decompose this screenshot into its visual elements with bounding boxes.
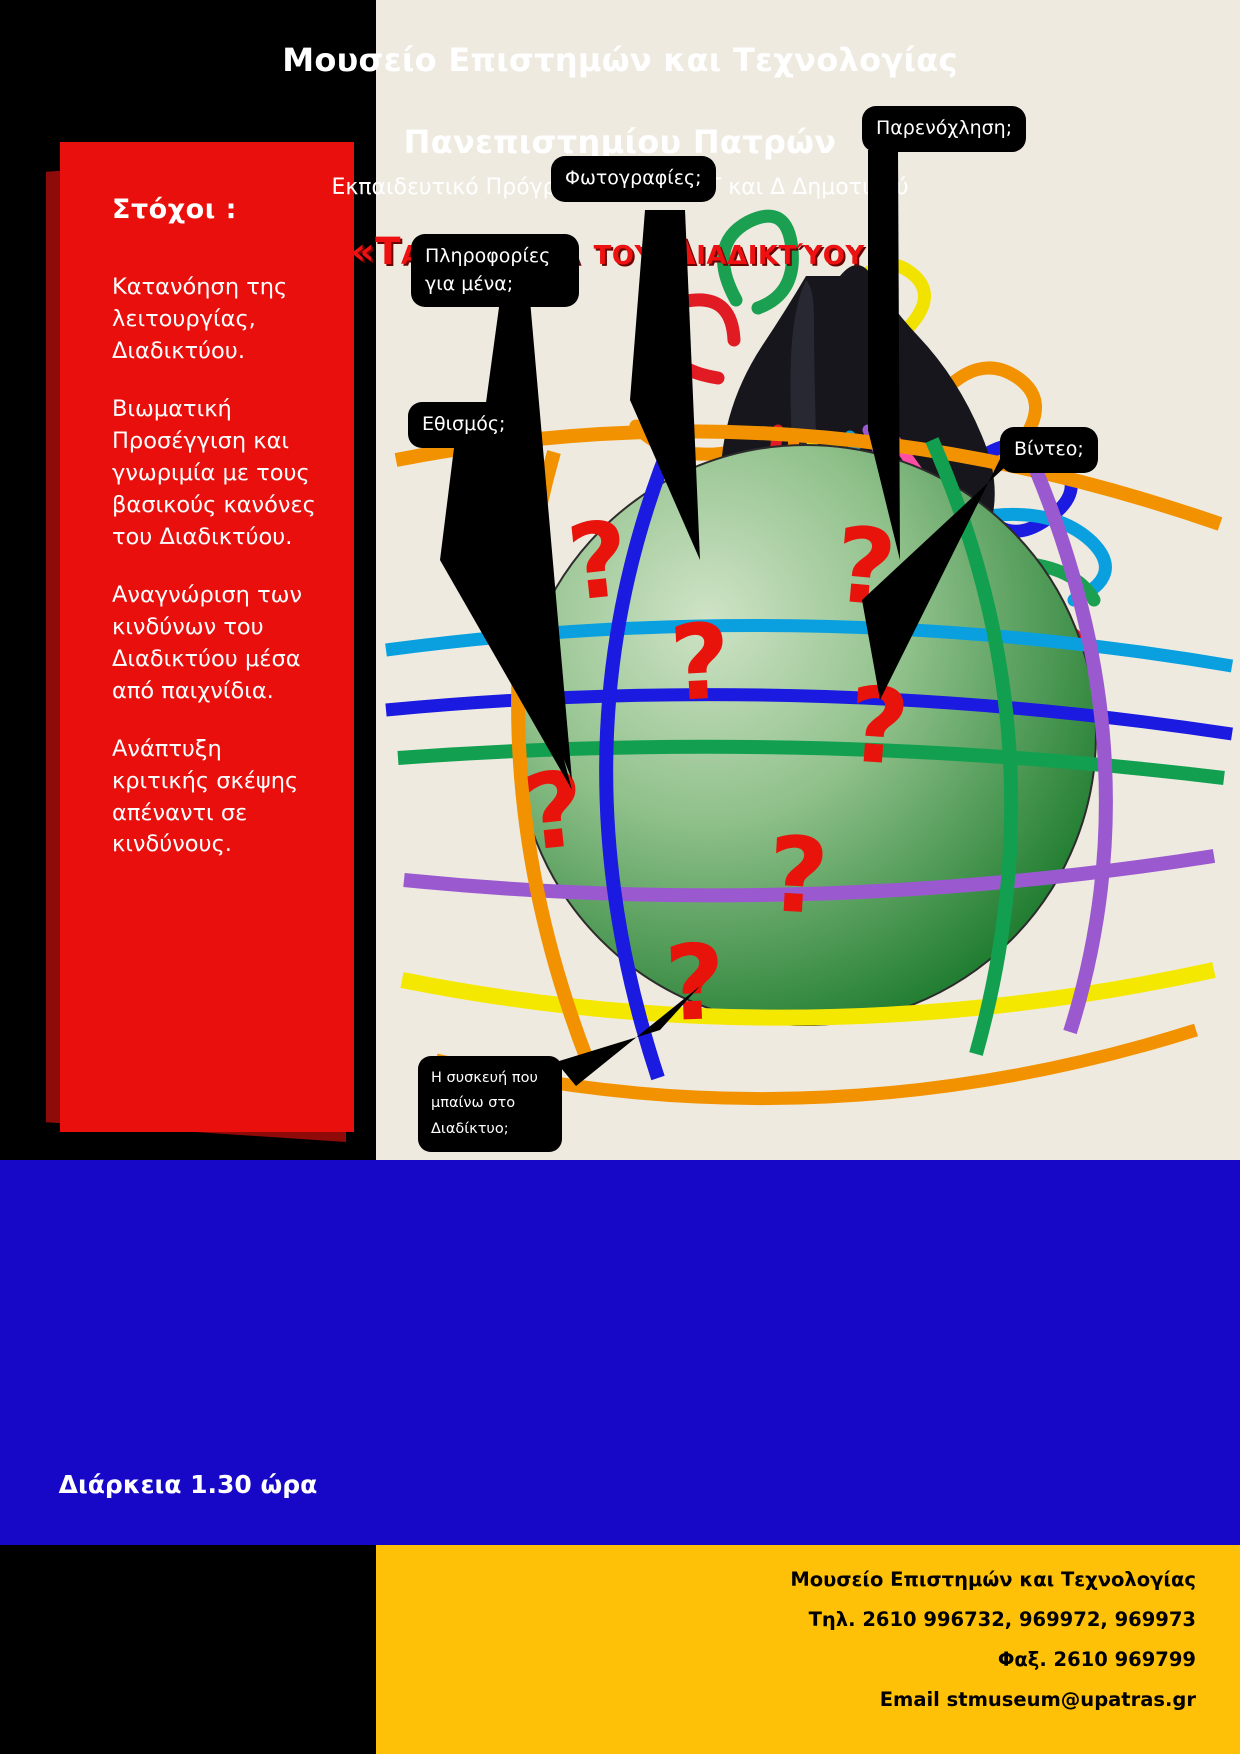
contact-line: Φαξ. 2610 969799 [496, 1640, 1196, 1680]
duration-label: Διάρκεια 1.30 ώρα [0, 1470, 376, 1499]
callout-photos[interactable]: Φωτογραφίες; [551, 156, 716, 202]
pointer-harassment [868, 150, 900, 560]
contact-line[interactable]: Email stmuseum@upatras.gr [496, 1680, 1196, 1720]
bottom-black-panel [0, 1545, 376, 1754]
callout-device[interactable]: Η συσκευή που μπαίνω στο Διαδίκτυο; [418, 1056, 562, 1152]
callout-video[interactable]: Βίντεο; [1000, 427, 1098, 473]
callout-harassment[interactable]: Παρενόχληση; [862, 106, 1026, 152]
pointer-device [556, 986, 700, 1086]
contact-line: Τηλ. 2610 996732, 969972, 969973 [496, 1600, 1196, 1640]
contact-block: Μουσείο Επιστημών και Τεχνολογίας Τηλ. 2… [496, 1560, 1196, 1721]
callout-addiction[interactable]: Εθισμός; [408, 402, 519, 448]
callout-info-about-me[interactable]: Πληροφορίες για μένα; [411, 234, 579, 307]
poster-root: ? ? ? ? ? ? ? Παρενόχληση; Φωτογραφίες; … [0, 0, 1240, 1754]
contact-line: Μουσείο Επιστημών και Τεχνολογίας [496, 1560, 1196, 1600]
pointer-photos [630, 210, 700, 560]
